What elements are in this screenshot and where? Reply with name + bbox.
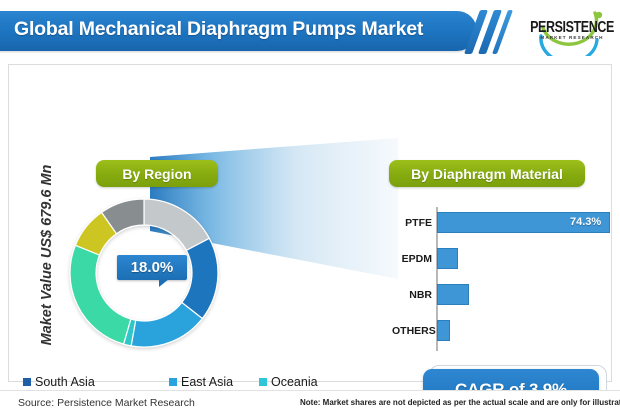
bar-row: EPDM xyxy=(392,245,620,278)
legend-swatch-icon xyxy=(169,378,177,386)
footer-source: Source: Persistence Market Research xyxy=(18,397,195,409)
legend-swatch-icon xyxy=(259,378,267,386)
bar-label-epdm: EPDM xyxy=(392,253,432,265)
logo-subtitle: MARKET RESEARCH xyxy=(529,35,615,40)
legend-label: South Asia xyxy=(35,375,95,389)
badge-by-diaphragm-material: By Diaphragm Material xyxy=(389,160,585,187)
bar-label-others: OTHERS xyxy=(392,325,432,337)
bar-fill-epdm xyxy=(437,248,458,269)
slash-decoration-icon xyxy=(470,10,522,54)
donut-slice-europe xyxy=(144,199,209,250)
bar-row: PTFE 74.3% xyxy=(392,209,620,242)
bar-fill-others xyxy=(437,320,450,341)
badge-by-region: By Region xyxy=(96,160,218,187)
bar-label-nbr: NBR xyxy=(392,289,432,301)
bar-fill-nbr xyxy=(437,284,469,305)
chart-frame: Maket Value US$ 679.6 Mn xyxy=(8,64,612,382)
bar-row: NBR xyxy=(392,281,620,314)
footer-note: Note: Market shares are not depicted as … xyxy=(300,398,620,407)
legend-item-oceania: Oceania xyxy=(259,375,318,389)
page-title: Global Mechanical Diaphragm Pumps Market xyxy=(14,18,474,41)
legend-label: East Asia xyxy=(181,375,233,389)
bar-value-ptfe: 74.3% xyxy=(570,216,601,228)
footer: Source: Persistence Market Research Note… xyxy=(0,390,620,418)
logo-name: PERSISTENCE xyxy=(529,18,615,36)
donut-center-badge-tail xyxy=(159,279,169,287)
bar-label-ptfe: PTFE xyxy=(392,217,432,229)
bar-row: OTHERS xyxy=(392,317,620,350)
legend-label: Oceania xyxy=(271,375,318,389)
legend-item-east-asia: East Asia xyxy=(169,375,233,389)
infographic-root: Global Mechanical Diaphragm Pumps Market… xyxy=(0,0,620,418)
legend-item-south-asia: South Asia xyxy=(23,375,95,389)
persistence-logo: PERSISTENCE MARKET RESEARCH xyxy=(521,6,617,56)
legend-swatch-icon xyxy=(23,378,31,386)
donut-center-value: 18.0% xyxy=(117,255,187,280)
header: Global Mechanical Diaphragm Pumps Market… xyxy=(0,0,620,62)
diaphragm-material-bar-chart: PTFE 74.3% EPDM NBR OTHERS xyxy=(392,205,620,353)
